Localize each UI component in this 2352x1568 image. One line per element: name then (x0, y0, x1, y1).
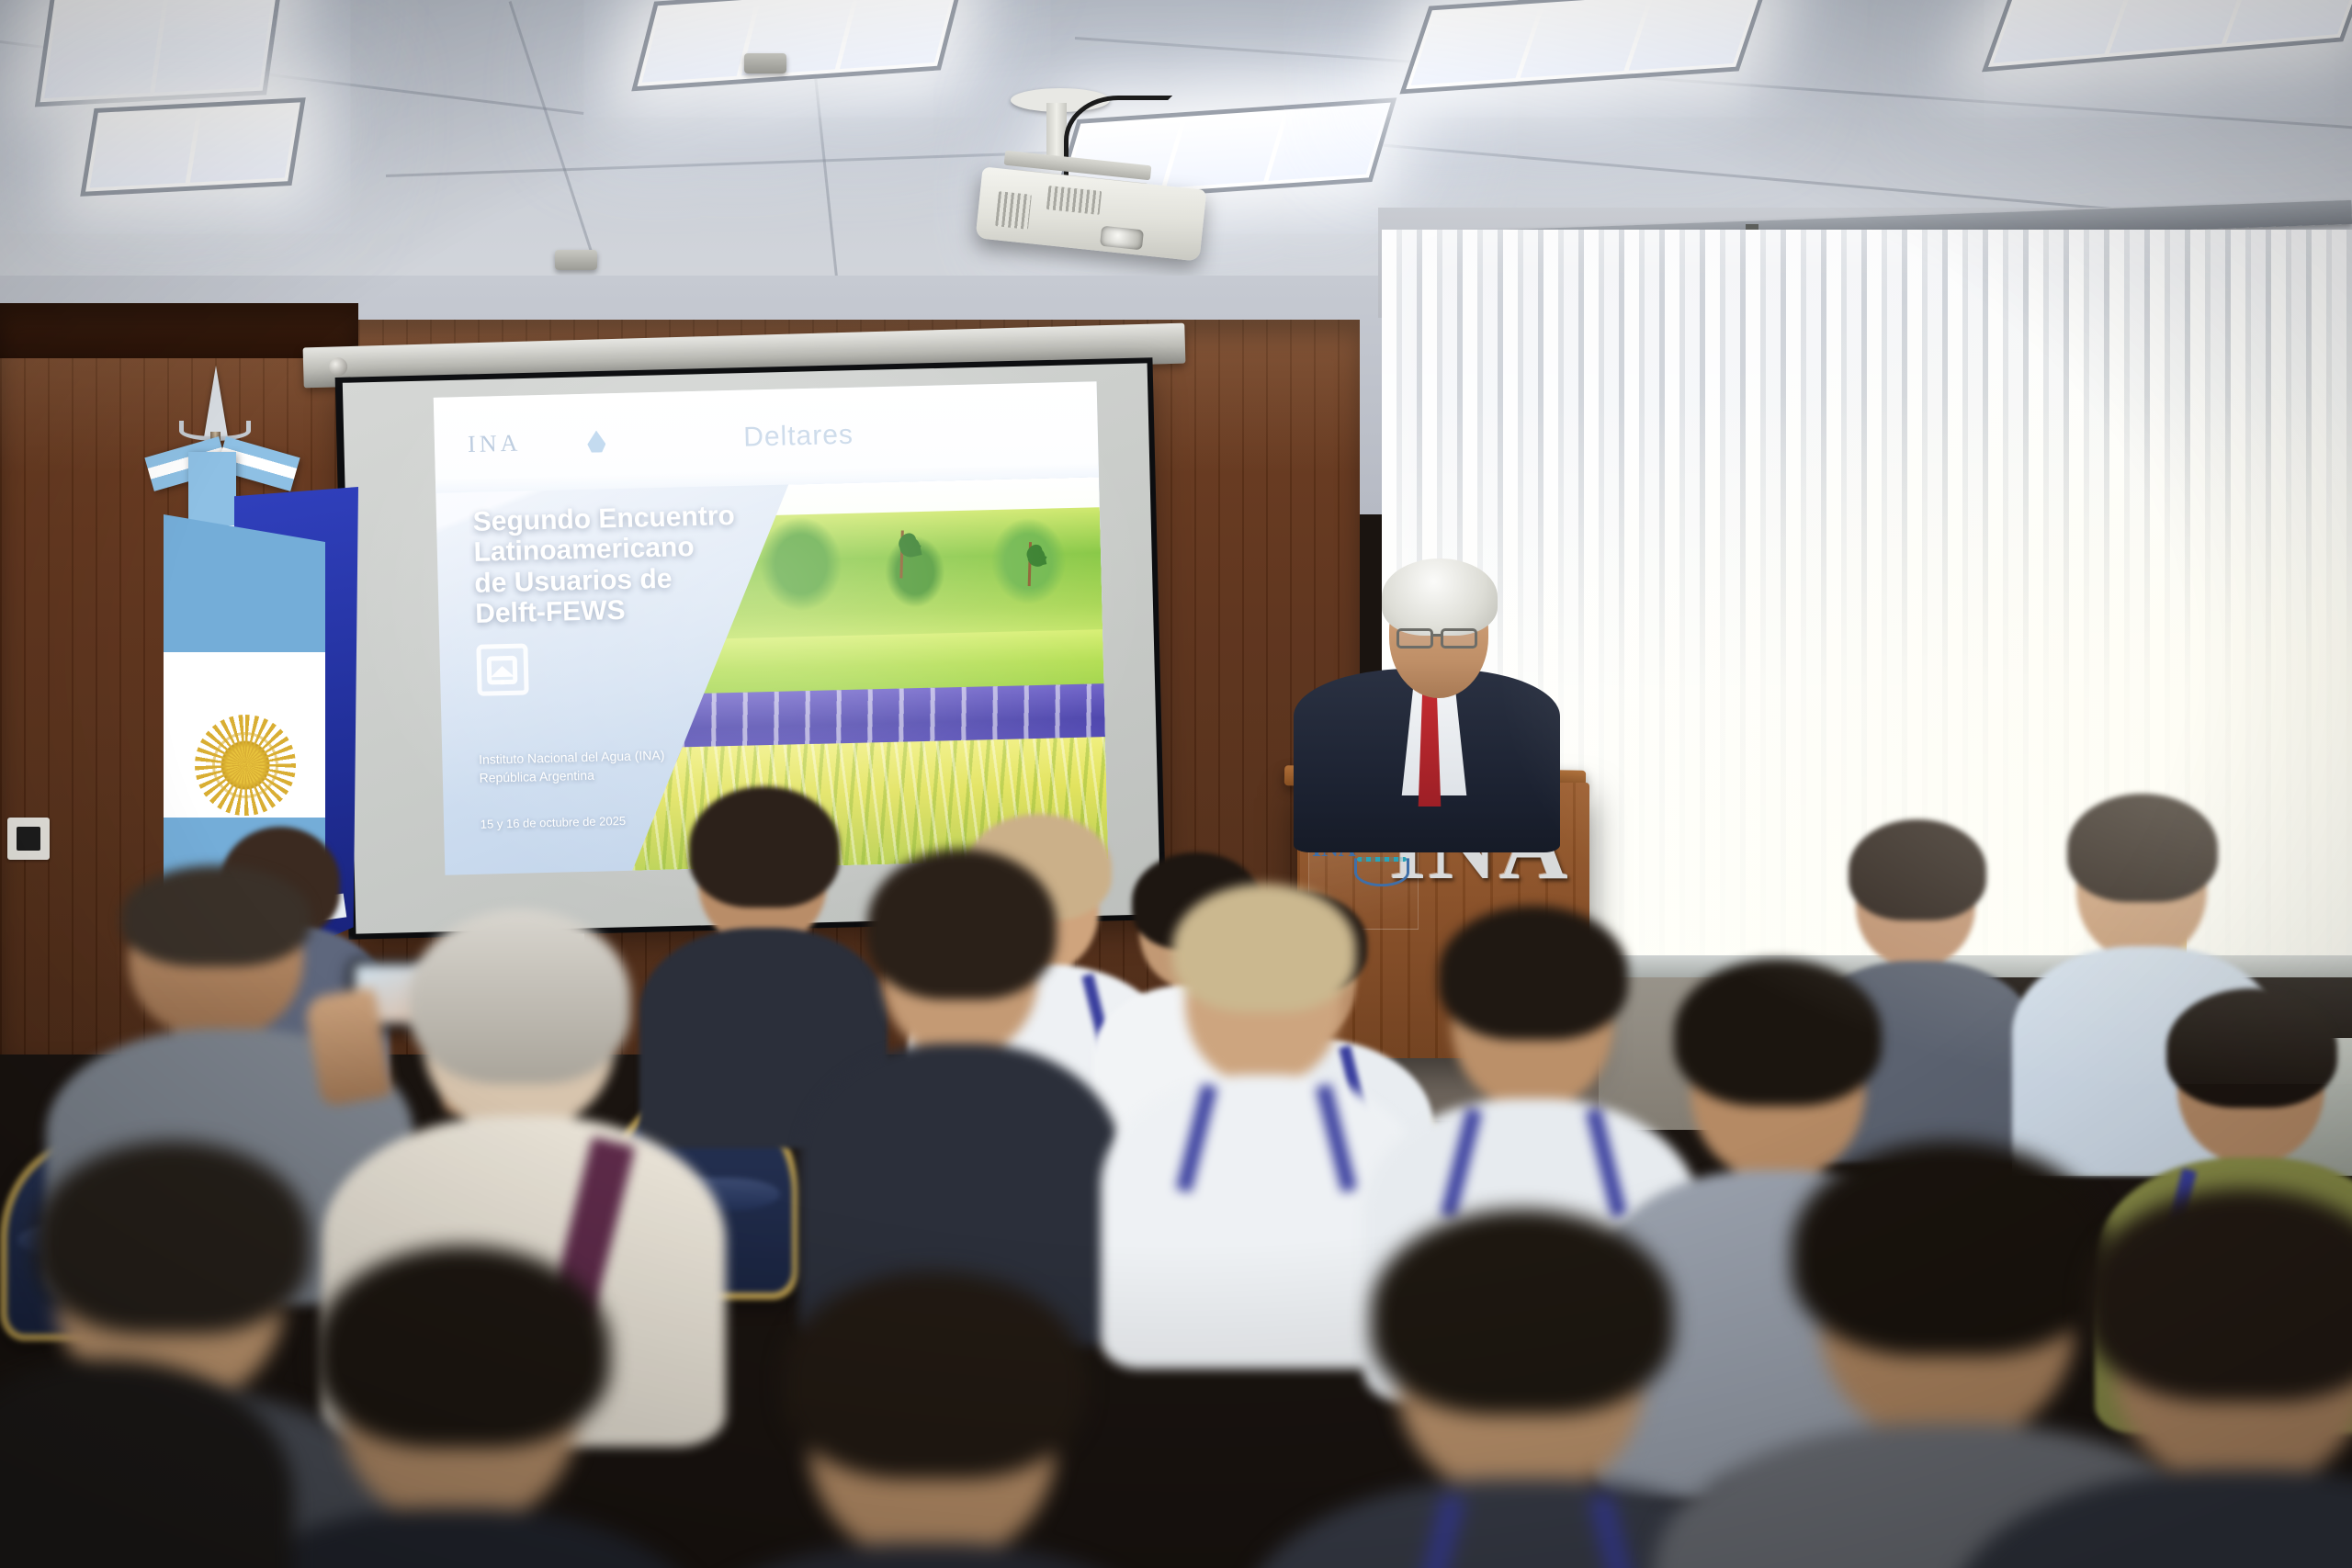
ceiling-light-panel (80, 97, 306, 197)
smoke-detector-icon (555, 250, 597, 270)
power-outlet[interactable] (7, 818, 50, 860)
eyeglasses-bridge (1431, 634, 1442, 637)
palm-tree-icon (883, 520, 922, 580)
slide-header: INA Deltares (434, 381, 1099, 493)
slide-logo-ina: INA (468, 430, 522, 458)
slide-date: 15 y 16 de octubre de 2025 (481, 814, 627, 831)
water-drop-icon (587, 430, 606, 452)
slide-logo-deltares: Deltares (743, 420, 854, 454)
slide-title: Segundo Encuentro Latinoamericano de Usu… (472, 499, 780, 629)
sol-de-mayo-icon (215, 735, 276, 795)
palm-tree-icon (1012, 532, 1046, 586)
smoke-detector-icon (744, 53, 786, 73)
speaker (1314, 551, 1589, 827)
ceiling-light-panel (35, 0, 283, 107)
conference-room-photo: INA Deltares (0, 0, 2352, 1568)
eyeglasses-icon (1396, 628, 1433, 649)
monitor-mountain-icon (476, 644, 528, 696)
eyeglasses-icon (1441, 628, 1477, 649)
speaker-hair (1382, 558, 1498, 636)
foreground-silhouette (0, 1359, 294, 1568)
